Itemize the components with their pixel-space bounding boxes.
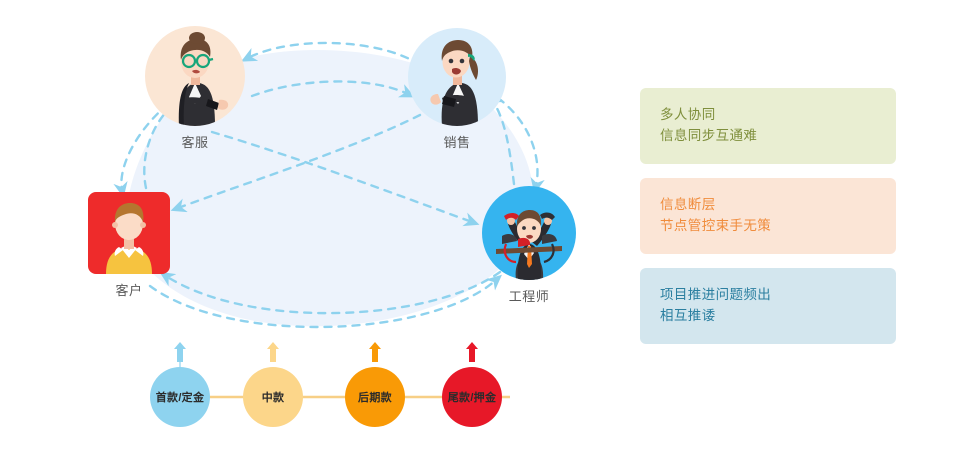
- node-label: 客户: [88, 280, 170, 299]
- engineer-avatar: [482, 186, 576, 280]
- card-line-1: 信息断层: [660, 194, 876, 215]
- screenshot-canvas: 客服: [0, 0, 971, 472]
- card-collaboration[interactable]: 多人协同 信息同步互通难: [640, 88, 896, 164]
- customer-service-avatar: [145, 26, 245, 126]
- timeline-label-4: 尾款/押金: [448, 389, 497, 405]
- node-engineer[interactable]: 工程师: [482, 186, 576, 305]
- sales-avatar: [408, 28, 506, 126]
- card-line-2: 信息同步互通难: [660, 125, 876, 146]
- customer-avatar: [88, 192, 170, 274]
- payment-timeline: 首款/定金 中款 后期款 尾款/押金: [150, 340, 550, 430]
- network-links: [0, 0, 620, 360]
- node-label: 客服: [145, 132, 245, 151]
- timeline-label-1: 首款/定金: [156, 389, 205, 405]
- timeline-node-4[interactable]: [442, 342, 502, 427]
- node-label: 销售: [408, 132, 506, 151]
- node-sales[interactable]: 销售: [408, 28, 506, 151]
- timeline-node-2[interactable]: [243, 342, 303, 427]
- node-customer[interactable]: 客户: [88, 192, 170, 299]
- timeline-label-2: 中款: [262, 389, 285, 405]
- card-project-issues[interactable]: 项目推进问题频出 相互推诿: [640, 268, 896, 344]
- card-line-1: 项目推进问题频出: [660, 284, 876, 305]
- timeline-node-1[interactable]: [150, 342, 210, 427]
- collaboration-diagram: 客服: [0, 0, 620, 472]
- node-label: 工程师: [482, 286, 576, 305]
- card-line-1: 多人协同: [660, 104, 876, 125]
- card-information-gap[interactable]: 信息断层 节点管控束手无策: [640, 178, 896, 254]
- timeline-node-3[interactable]: [345, 342, 405, 427]
- card-line-2: 节点管控束手无策: [660, 215, 876, 236]
- node-customer-service[interactable]: 客服: [145, 26, 245, 151]
- card-line-2: 相互推诿: [660, 305, 876, 326]
- pain-point-card-list: 多人协同 信息同步互通难 信息断层 节点管控束手无策 项目推进问题频出 相互推诿: [640, 88, 896, 358]
- timeline-label-3: 后期款: [358, 389, 392, 405]
